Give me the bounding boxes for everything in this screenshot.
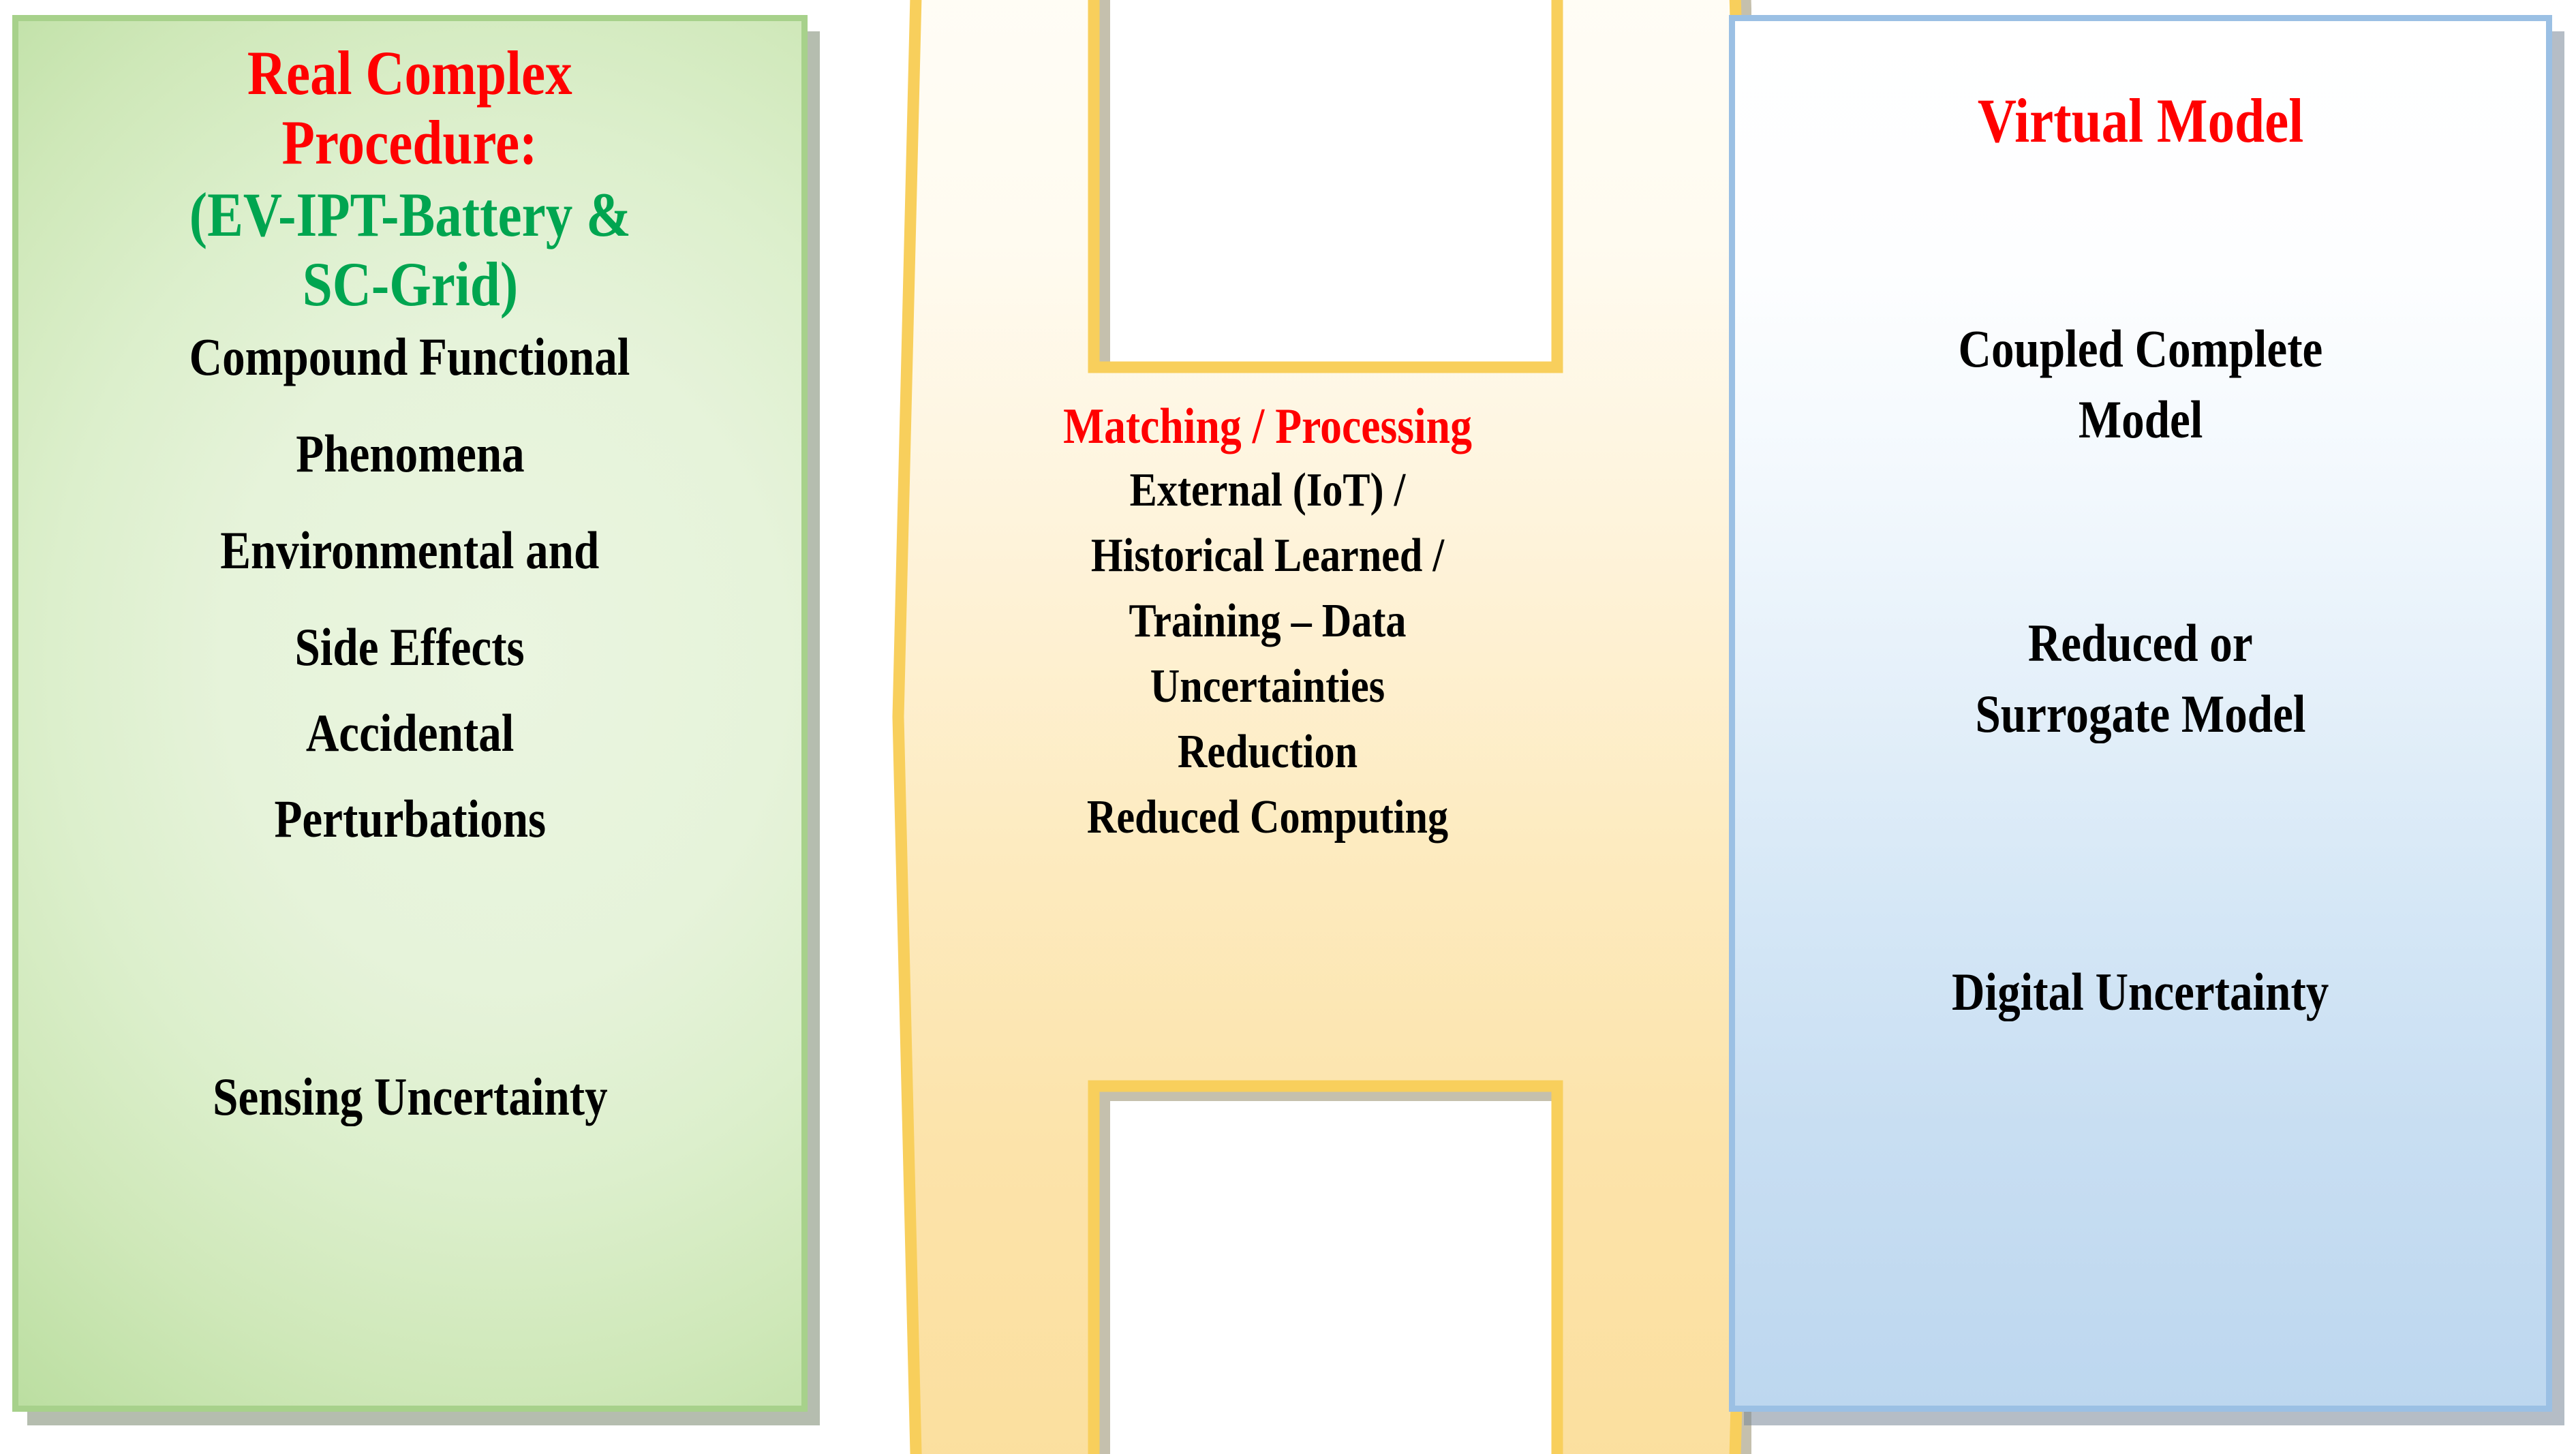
arrow-text-block: Matching / Processing External (IoT) / H…	[957, 401, 1578, 841]
right-panel-body-group2-line1: Reduced or	[2028, 617, 2253, 670]
right-panel-body-group1-line1: Coupled Complete	[1959, 322, 2323, 375]
left-panel-subtitle-line1: (EV-IPT-Battery &	[189, 183, 630, 246]
right-panel-heading: Virtual Model	[1978, 89, 2303, 152]
left-panel-body-line-1: Compound Functional	[189, 330, 630, 384]
left-panel-body-line-3: Environmental and	[220, 524, 599, 577]
matching-processing-arrow: Matching / Processing External (IoT) / H…	[784, 0, 1751, 1454]
arrow-body-line-1: External (IoT) /	[1001, 467, 1535, 514]
arrow-body-line-3: Training – Data	[1001, 598, 1535, 645]
diagram-canvas: Real Complex Procedure: (EV-IPT-Battery …	[0, 0, 2576, 1448]
right-panel-body-group1-line2: Model	[2079, 393, 2203, 446]
left-panel-subtitle-line2: SC-Grid)	[302, 253, 517, 315]
left-panel-body-line-6: Perturbations	[274, 792, 546, 846]
arrow-body-line-4: Uncertainties	[1001, 663, 1535, 711]
left-panel-body-line-4: Side Effects	[295, 621, 525, 674]
real-complex-procedure-panel: Real Complex Procedure: (EV-IPT-Battery …	[12, 15, 808, 1412]
left-panel-footer: Sensing Uncertainty	[213, 1070, 608, 1124]
left-panel-heading-line1: Real Complex	[247, 42, 572, 104]
arrow-body-line-6: Reduced Computing	[1001, 794, 1535, 841]
left-panel-heading-line2: Procedure:	[282, 111, 538, 174]
arrow-body-line-5: Reduction	[1001, 728, 1535, 776]
right-panel-footer: Digital Uncertainty	[1952, 965, 2329, 1019]
right-panel-body-group2-line2: Surrogate Model	[1975, 687, 2305, 741]
arrow-heading: Matching / Processing	[1001, 401, 1535, 452]
arrow-body-line-2: Historical Learned /	[1001, 532, 1535, 580]
left-panel-body-line-2: Phenomena	[296, 427, 524, 480]
left-panel-body-line-5: Accidental	[306, 707, 515, 760]
virtual-model-panel: Virtual Model Coupled Complete Model Red…	[1729, 15, 2552, 1412]
